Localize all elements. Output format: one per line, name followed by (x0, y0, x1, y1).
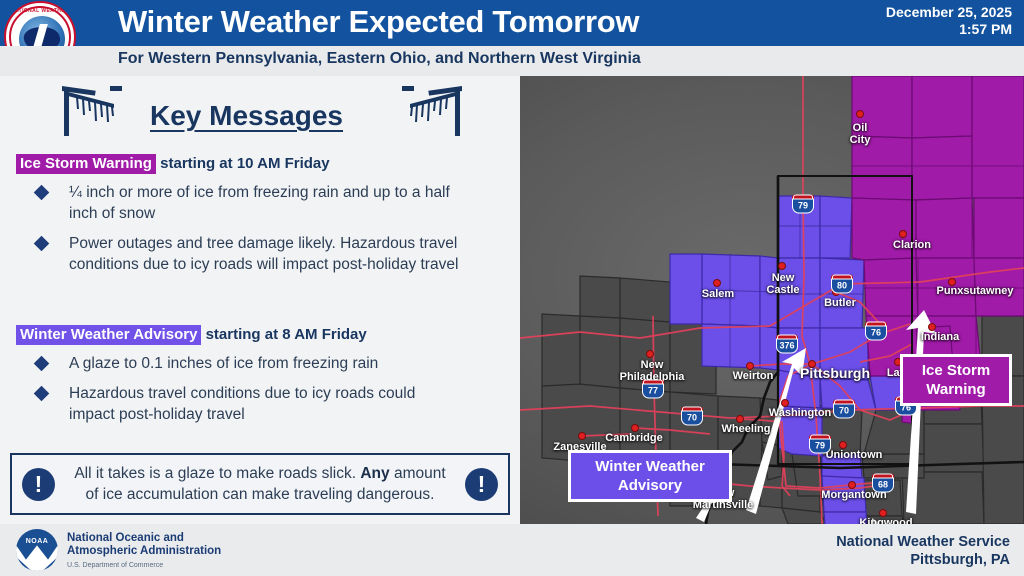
icicle-powerline-icon-2 (400, 84, 462, 147)
city-dot (713, 279, 721, 287)
bullet-text: A glaze to 0.1 inches of ice from freezi… (69, 353, 378, 374)
list-item: A glaze to 0.1 inches of ice from freezi… (36, 353, 506, 374)
agency-name: National Oceanic and Atmospheric Adminis… (67, 532, 221, 558)
exclamation-circle-icon: ! (22, 468, 55, 501)
badge-winter-weather-advisory: Winter Weather Advisory (16, 325, 201, 345)
ice-storm-warning-callout: Ice Storm Warning (900, 354, 1012, 406)
section-heading-winter-weather-advisory-rest: starting at 8 AM Friday (201, 326, 366, 343)
city-dot (856, 110, 864, 118)
nws-seal-top-text: NATIONAL WEATHER (6, 8, 74, 14)
diamond-bullet-icon (34, 185, 50, 201)
section-heading-ice-storm-warning: Ice Storm Warning starting at 10 AM Frid… (16, 155, 330, 172)
page-subtitle: For Western Pennsylvania, Eastern Ohio, … (118, 50, 641, 68)
city-dot (646, 350, 654, 358)
issuing-office-line1: National Weather Service (836, 533, 1010, 551)
interstate-shield-icon: 76 (865, 322, 887, 341)
diamond-bullet-icon (34, 356, 50, 372)
page-title: Winter Weather Expected Tomorrow (118, 4, 639, 40)
issuance-time: 1:57 PM (886, 21, 1012, 38)
city-dot (899, 230, 907, 238)
diamond-bullet-icon (34, 236, 50, 252)
exclamation-circle-icon-2: ! (465, 468, 498, 501)
diamond-bullet-icon (34, 386, 50, 402)
city-dot (736, 415, 744, 423)
bullet-text: Hazardous travel conditions due to icy r… (69, 383, 459, 425)
list-item: ¼ inch or more of ice from freezing rain… (36, 182, 506, 224)
city-dot (879, 509, 887, 517)
safety-callout-line1c: amount (390, 465, 446, 482)
agency-department: U.S. Department of Commerce (67, 562, 163, 569)
city-dot (928, 323, 936, 331)
badge-ice-storm-warning: Ice Storm Warning (16, 154, 156, 174)
city-dot (848, 481, 856, 489)
city-dot (578, 432, 586, 440)
noaa-wordmark: NOAA (16, 538, 58, 545)
safety-callout-line2: of ice accumulation can make traveling d… (86, 486, 435, 503)
issuing-office: National Weather Service Pittsburgh, PA (836, 533, 1010, 569)
safety-callout-box: ! All it takes is a glaze to make roads … (10, 453, 510, 515)
interstate-shield-icon: 68 (872, 474, 894, 493)
interstate-shield-icon: 80 (831, 275, 853, 294)
noaa-seagull-icon: NOAA (16, 529, 58, 571)
city-dot (631, 424, 639, 432)
icicle-powerline-icon (62, 84, 124, 147)
city-dot (746, 362, 754, 370)
city-dot (948, 278, 956, 286)
interstate-shield-icon: 70 (681, 407, 703, 426)
safety-callout-text: All it takes is a glaze to make roads sl… (55, 463, 465, 505)
city-dot (781, 399, 789, 407)
issuance-datetime: December 25, 2025 1:57 PM (886, 4, 1012, 38)
city-dot (839, 441, 847, 449)
winter-weather-advisory-callout: Winter Weather Advisory (568, 450, 732, 502)
interstate-shield-icon: 79 (809, 435, 831, 454)
city-dot (808, 360, 816, 368)
bullet-list-ice-storm-warning: ¼ inch or more of ice from freezing rain… (36, 182, 506, 284)
issuing-office-line2: Pittsburgh, PA (836, 551, 1010, 569)
bullet-list-winter-weather-advisory: A glaze to 0.1 inches of ice from freezi… (36, 353, 506, 434)
bullet-text: ¼ inch or more of ice from freezing rain… (69, 182, 459, 224)
key-messages-title: Key Messages (150, 100, 343, 132)
section-heading-winter-weather-advisory: Winter Weather Advisory starting at 8 AM… (16, 326, 367, 343)
agency-name-line1: National Oceanic and (67, 532, 221, 545)
city-dot (778, 262, 786, 270)
safety-callout-line1a: All it takes is a glaze to make roads sl… (74, 465, 360, 482)
issuance-date: December 25, 2025 (886, 4, 1012, 21)
list-item: Power outages and tree damage likely. Ha… (36, 233, 506, 275)
interstate-shield-icon: 77 (642, 380, 664, 399)
list-item: Hazardous travel conditions due to icy r… (36, 383, 506, 425)
agency-name-line2: Atmospheric Administration (67, 545, 221, 558)
bullet-text: Power outages and tree damage likely. Ha… (69, 233, 459, 275)
alert-map[interactable]: Oil CityClarionPunxsutawneyIndianaSalemN… (520, 76, 1024, 524)
interstate-shield-icon: 79 (792, 195, 814, 214)
key-messages-panel: Key Messages Ice Storm Warning starting … (0, 76, 520, 524)
interstate-shield-icon: 70 (833, 400, 855, 419)
interstate-shield-icon: 376 (776, 335, 798, 354)
safety-callout-emphasis: Any (360, 465, 389, 482)
section-heading-ice-storm-warning-rest: starting at 10 AM Friday (156, 155, 330, 172)
